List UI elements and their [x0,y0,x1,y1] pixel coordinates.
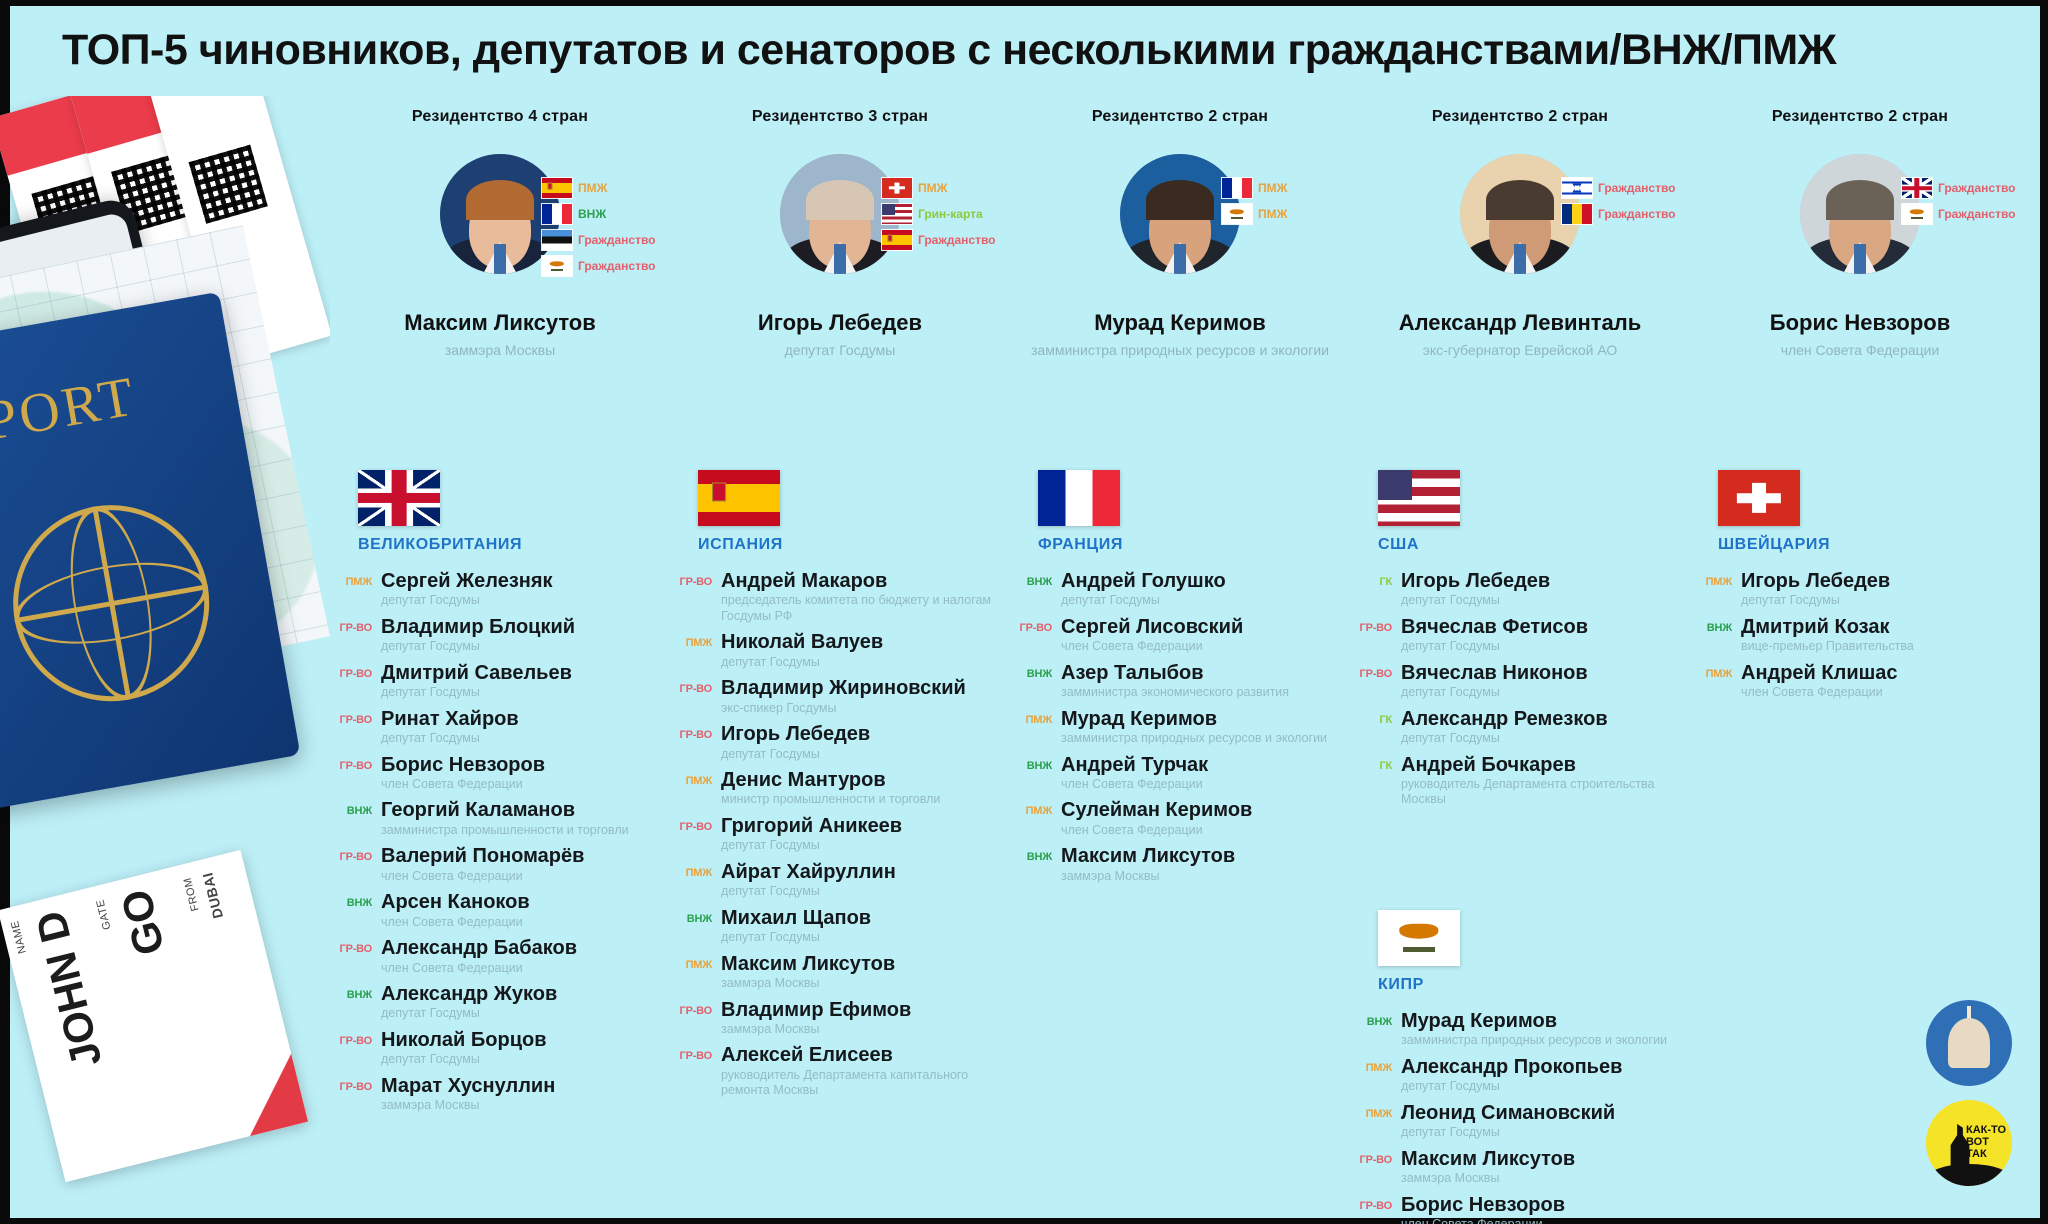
list-item: ГР-ВОМарат Хуснуллинзаммэра Москвы [330,1075,670,1114]
entry-role: депутат Госдумы [381,731,670,747]
list-item: ГР-ВОРинат Хайровдепутат Госдумы [330,708,670,747]
person-role: член Совета Федерации [1690,341,2030,359]
list-item: ПМЖАлександр Прокопьевдепутат Госдумы [1350,1056,1690,1095]
status-badge: ГР-ВО [330,1029,372,1068]
entry-name: Вячеслав Фетисов [1401,616,1690,638]
country-title: ИСПАНИЯ [698,536,783,554]
residency-count: Резидентство 2 стран [1690,108,2030,126]
entry-body: Максим Ликсутовзаммэра Москвы [721,953,1010,992]
residency-row: ВНЖ [542,202,656,226]
entry-role: заммэра Москвы [721,976,1010,992]
border-right [2040,0,2048,1224]
entry-name: Алексей Елисеев [721,1044,1010,1066]
list-item: ВНЖАндрей Голушкодепутат Госдумы [1010,570,1350,609]
entry-role: депутат Госдумы [721,884,1010,900]
entry-role: член Совета Федерации [1061,639,1350,655]
entry-name: Григорий Аникеев [721,815,1010,837]
entry-role: руководитель Департамента строительства … [1401,777,1690,808]
top5-card-2: Резидентство 3 странПМЖГрин-картаГраждан… [670,108,1010,359]
list-item: ГР-ВОВладимир Блоцкийдепутат Госдумы [330,616,670,655]
logo-line-1: КАК-ТО [1966,1124,2006,1136]
entry-body: Александр Бабаковчлен Совета Федерации [381,937,670,976]
entry-body: Андрей Турчакчлен Совета Федерации [1061,754,1350,793]
list-item: ГКИгорь Лебедевдепутат Госдумы [1350,570,1690,609]
residency-row: Гражданство [882,228,996,252]
country-column-usa: СШАГКИгорь Лебедевдепутат ГосдумыГР-ВОВя… [1350,470,1690,815]
country-entry-list: ГР-ВОАндрей Макаровпредседатель комитета… [670,570,1010,1099]
entry-body: Азер Талыбовзамминистра экономического р… [1061,662,1350,701]
entry-role: депутат Госдумы [1401,685,1690,701]
list-item: ГР-ВОАндрей Макаровпредседатель комитета… [670,570,1010,624]
boarding-pass: NAME JOHN D GATE GO FROM DUBAI [0,850,308,1182]
entry-name: Владимир Блоцкий [381,616,670,638]
entry-name: Валерий Пономарёв [381,845,670,867]
flag-france-icon [542,204,572,224]
entry-body: Игорь Лебедевдепутат Госдумы [1401,570,1690,609]
country-title: США [1378,536,1419,554]
country-entry-list: ВНЖАндрей Голушкодепутат ГосдумыГР-ВОСер… [1010,570,1350,884]
list-item: ГР-ВОМаксим Ликсутовзаммэра Москвы [1350,1148,1690,1187]
status-badge: ПМЖ [670,631,712,670]
person-name: Александр Левинталь [1350,310,1690,336]
status-badge: ГР-ВО [670,815,712,854]
entry-body: Игорь Лебедевдепутат Госдумы [1741,570,2030,609]
residency-row: ПМЖ [1222,202,1287,226]
residency-status: Гражданство [1598,181,1676,195]
entry-role: замминистра природных ресурсов и экологи… [1401,1033,1690,1049]
entry-role: депутат Госдумы [381,639,670,655]
residency-flag-list: ГражданствоГражданство [1902,176,2016,226]
globe-meridian [92,506,131,700]
status-badge: ПМЖ [670,769,712,808]
photo-area: ГражданствоГражданство [1350,154,1690,294]
page-title: ТОП-5 чиновников, депутатов и сенаторов … [62,26,2022,75]
residency-status: ПМЖ [1258,207,1287,221]
country-header: США [1350,470,1690,570]
entry-body: Григорий Аникеевдепутат Госдумы [721,815,1010,854]
flag-estonia-icon [542,230,572,250]
entry-role: замминистра промышленности и торговли [381,823,670,839]
residency-status: Грин-карта [918,207,983,221]
status-badge: ПМЖ [1690,662,1732,701]
status-badge: ПМЖ [1690,570,1732,609]
list-item: ГР-ВОАлександр Бабаковчлен Совета Федера… [330,937,670,976]
globe-icon [0,490,225,717]
status-badge: ВНЖ [1010,570,1052,609]
residency-status: ВНЖ [578,207,606,221]
status-badge: ГР-ВО [1350,662,1392,701]
list-item: ГР-ВОБорис Невзоровчлен Совета Федерации [1350,1194,1690,1224]
entry-role: депутат Госдумы [1401,639,1690,655]
flag-spain-icon [542,178,572,198]
photo-area: ПМЖВНЖГражданствоГражданство [330,154,670,294]
entry-role: замминистра экономического развития [1061,685,1350,701]
residency-count: Резидентство 3 стран [670,108,1010,126]
entry-name: Сергей Железняк [381,570,670,592]
residency-status: Гражданство [1938,207,2016,221]
entry-name: Александр Жуков [381,983,670,1005]
entry-body: Андрей Клишасчлен Совета Федерации [1741,662,2030,701]
status-badge: ГР-ВО [1350,1148,1392,1187]
list-item: ГР-ВОИгорь Лебедевдепутат Госдумы [670,723,1010,762]
list-item: ПМЖСергей Железнякдепутат Госдумы [330,570,670,609]
status-badge: ВНЖ [1010,754,1052,793]
country-column-switzerland: ШВЕЙЦАРИЯПМЖИгорь Лебедевдепутат Госдумы… [1690,470,2030,708]
flag-cyprus-icon [1222,204,1252,224]
entry-role: депутат Госдумы [1061,593,1350,609]
list-item: ГР-ВОВячеслав Фетисовдепутат Госдумы [1350,616,1690,655]
list-item: ПМЖМаксим Ликсутовзаммэра Москвы [670,953,1010,992]
list-item: ВНЖМихаил Щаповдепутат Госдумы [670,907,1010,946]
status-badge: ВНЖ [330,891,372,930]
list-item: ПМЖАндрей Клишасчлен Совета Федерации [1690,662,2030,701]
entry-body: Владимир Блоцкийдепутат Госдумы [381,616,670,655]
entry-body: Вячеслав Никоновдепутат Госдумы [1401,662,1690,701]
entry-name: Борис Невзоров [1401,1194,1690,1216]
entry-role: депутат Госдумы [721,747,1010,763]
status-badge: ГР-ВО [330,754,372,793]
entry-body: Айрат Хайруллиндепутат Госдумы [721,861,1010,900]
entry-role: член Совета Федерации [381,869,670,885]
list-item: ПМЖДенис Мантуровминистр промышленности … [670,769,1010,808]
entry-name: Арсен Каноков [381,891,670,913]
flag-uk-icon [1902,178,1932,198]
entry-role: депутат Госдумы [381,1006,670,1022]
country-entry-list: ПМЖИгорь Лебедевдепутат ГосдумыВНЖДмитри… [1690,570,2030,701]
flag-usa-icon [1378,470,1460,526]
residency-count: Резидентство 2 стран [1010,108,1350,126]
status-badge: ГР-ВО [1350,1194,1392,1224]
entry-role: замминистра природных ресурсов и экологи… [1061,731,1350,747]
entry-name: Сулейман Керимов [1061,799,1350,821]
entry-body: Максим Ликсутовзаммэра Москвы [1061,845,1350,884]
person-role: экс-губернатор Еврейской АО [1350,341,1690,359]
dome-shape [1948,1018,1990,1068]
country-title: ВЕЛИКОБРИТАНИЯ [358,536,522,554]
boarding-name-value: JOHN D [26,906,111,1072]
entry-body: Андрей Голушкодепутат Госдумы [1061,570,1350,609]
entry-name: Максим Ликсутов [1401,1148,1690,1170]
country-header: ИСПАНИЯ [670,470,1010,570]
infographic-page: ТОП-5 чиновников, депутатов и сенаторов … [0,0,2048,1224]
entry-name: Дмитрий Козак [1741,616,2030,638]
residency-row: Гражданство [1902,176,2016,200]
residency-row: ПМЖ [542,176,656,200]
entry-name: Айрат Хайруллин [721,861,1010,883]
status-badge: ПМЖ [1010,799,1052,838]
top5-card-5: Резидентство 2 странГражданствоГражданст… [1690,108,2030,359]
status-badge: ГР-ВО [670,677,712,716]
entry-name: Владимир Ефимов [721,999,1010,1021]
entry-body: Марат Хуснуллинзаммэра Москвы [381,1075,670,1114]
boarding-gate-value: GO [112,885,174,960]
list-item: ВНЖМаксим Ликсутовзаммэра Москвы [1010,845,1350,884]
country-column-france: ФРАНЦИЯВНЖАндрей Голушкодепутат ГосдумыГ… [1010,470,1350,891]
entry-name: Александр Прокопьев [1401,1056,1690,1078]
status-badge: ВНЖ [1690,616,1732,655]
entry-body: Александр Ремезковдепутат Госдумы [1401,708,1690,747]
boarding-corner [233,1054,308,1136]
list-item: ГР-ВОВалерий Пономарёвчлен Совета Федера… [330,845,670,884]
entry-role: депутат Госдумы [1401,593,1690,609]
entry-role: председатель комитета по бюджету и налог… [721,593,1010,624]
country-entry-list: ПМЖСергей Железнякдепутат ГосдумыГР-ВОВл… [330,570,670,1114]
entry-body: Сергей Железнякдепутат Госдумы [381,570,670,609]
top5-card-3: Резидентство 2 странПМЖПМЖМурад Керимовз… [1010,108,1350,359]
entry-body: Игорь Лебедевдепутат Госдумы [721,723,1010,762]
entry-body: Арсен Каноковчлен Совета Федерации [381,891,670,930]
country-title: ШВЕЙЦАРИЯ [1718,536,1830,554]
list-item: ГР-ВОВячеслав Никоновдепутат Госдумы [1350,662,1690,701]
entry-name: Игорь Лебедев [1401,570,1690,592]
country-column-uk: ВЕЛИКОБРИТАНИЯПМЖСергей Железнякдепутат … [330,470,670,1121]
status-badge: ГР-ВО [670,999,712,1038]
top5-card-4: Резидентство 2 странГражданствоГражданст… [1350,108,1690,359]
boarding-from-label: FROM [182,876,202,912]
status-badge: ГК [1350,570,1392,609]
country-title: ФРАНЦИЯ [1038,536,1123,554]
status-badge: ГР-ВО [1010,616,1052,655]
country-entry-list: ВНЖМурад Керимовзамминистра природных ре… [1350,1010,1690,1224]
top5-card-1: Резидентство 4 странПМЖВНЖГражданствоГра… [330,108,670,359]
list-item: ГР-ВОАлексей Елисеевруководитель Департа… [670,1044,1010,1098]
entry-body: Вячеслав Фетисовдепутат Госдумы [1401,616,1690,655]
entry-name: Николай Валуев [721,631,1010,653]
boarding-gate-label: GATE [94,898,113,931]
residency-status: ПМЖ [918,181,947,195]
entry-name: Леонид Симановский [1401,1102,1690,1124]
list-item: ВНЖАлександр Жуковдепутат Госдумы [330,983,670,1022]
residency-status: Гражданство [918,233,996,247]
status-badge: ВНЖ [670,907,712,946]
entry-name: Борис Невзоров [381,754,670,776]
status-badge: ВНЖ [330,799,372,838]
entry-role: член Совета Федерации [1061,777,1350,793]
status-badge: ПМЖ [330,570,372,609]
entry-name: Ринат Хайров [381,708,670,730]
entry-name: Владимир Жириновский [721,677,1010,699]
flag-israel-icon [1562,178,1592,198]
status-badge: ГР-ВО [330,708,372,747]
status-badge: ВНЖ [330,983,372,1022]
flag-cyprus-icon [1902,204,1932,224]
entry-role: член Совета Федерации [381,777,670,793]
top5-row: Резидентство 4 странПМЖВНЖГражданствоГра… [330,108,2030,348]
list-item: ГР-ВОВладимир Ефимовзаммэра Москвы [670,999,1010,1038]
list-item: ВНЖАрсен Каноковчлен Совета Федерации [330,891,670,930]
entry-name: Игорь Лебедев [1741,570,2030,592]
status-badge: ГР-ВО [330,845,372,884]
entry-body: Сергей Лисовскийчлен Совета Федерации [1061,616,1350,655]
residency-status: Гражданство [1598,207,1676,221]
country-header: ШВЕЙЦАРИЯ [1690,470,2030,570]
residency-row: Гражданство [542,228,656,252]
list-item: ГР-ВОДмитрий Савельевдепутат Госдумы [330,662,670,701]
residency-flag-list: ПМЖПМЖ [1222,176,1287,226]
person-role: депутат Госдумы [670,341,1010,359]
entry-body: Александр Жуковдепутат Госдумы [381,983,670,1022]
entry-body: Мурад Керимовзамминистра природных ресур… [1401,1010,1690,1049]
list-item: ВНЖАндрей Турчакчлен Совета Федерации [1010,754,1350,793]
list-item: ВНЖАзер Талыбовзамминистра экономическог… [1010,662,1350,701]
entry-role: депутат Госдумы [1401,731,1690,747]
status-badge: ГК [1350,708,1392,747]
residency-row: ПМЖ [1222,176,1287,200]
person-name: Игорь Лебедев [670,310,1010,336]
list-item: ГР-ВОСергей Лисовскийчлен Совета Федерац… [1010,616,1350,655]
entry-body: Николай Валуевдепутат Госдумы [721,631,1010,670]
residency-row: Гражданство [542,254,656,278]
residency-status: Гражданство [578,233,656,247]
status-badge: ГР-ВО [670,570,712,624]
person-name: Мурад Керимов [1010,310,1350,336]
residency-status: ПМЖ [1258,181,1287,195]
status-badge: ВНЖ [1010,845,1052,884]
globe-parallel [14,584,208,623]
entry-body: Алексей Елисеевруководитель Департамента… [721,1044,1010,1098]
residency-status: Гражданство [578,259,656,273]
entry-body: Андрей Бочкаревруководитель Департамента… [1401,754,1690,808]
entry-body: Владимир Жириновскийэкс-спикер Госдумы [721,677,1010,716]
status-badge: ГР-ВО [670,1044,712,1098]
entry-name: Денис Мантуров [721,769,1010,791]
residency-row: Грин-карта [882,202,996,226]
entry-role: депутат Госдумы [381,685,670,701]
entry-body: Борис Невзоровчлен Совета Федерации [1401,1194,1690,1224]
entry-body: Андрей Макаровпредседатель комитета по б… [721,570,1010,624]
person-role: замминистра природных ресурсов и экологи… [1010,341,1350,359]
status-badge: ГР-ВО [330,1075,372,1114]
entry-name: Николай Борцов [381,1029,670,1051]
entry-name: Андрей Макаров [721,570,1010,592]
entry-role: министр промышленности и торговли [721,792,1010,808]
list-item: ВНЖГеоргий Каламановзамминистра промышле… [330,799,670,838]
logo-line-2: ВОТ ТАК [1966,1136,2012,1160]
entry-role: заммэра Москвы [381,1098,670,1114]
qr-code-icon [189,145,268,224]
status-badge: ВНЖ [1350,1010,1392,1049]
list-item: ПМЖАйрат Хайруллиндепутат Госдумы [670,861,1010,900]
boarding-name-label: NAME [9,919,29,955]
flag-spain-icon [882,230,912,250]
entry-name: Мурад Керимов [1061,708,1350,730]
list-item: ГКАлександр Ремезковдепутат Госдумы [1350,708,1690,747]
entry-body: Дмитрий Савельевдепутат Госдумы [381,662,670,701]
list-item: ПМЖСулейман Керимовчлен Совета Федерации [1010,799,1350,838]
entry-role: заммэра Москвы [721,1022,1010,1038]
entry-role: депутат Госдумы [721,655,1010,671]
residency-row: ПМЖ [882,176,996,200]
channel-logo[interactable]: КАК-ТО ВОТ ТАК [1926,1100,2012,1186]
status-badge: ГР-ВО [330,662,372,701]
entry-body: Денис Мантуровминистр промышленности и т… [721,769,1010,808]
status-badge: ГК [1350,754,1392,808]
status-badge: ГР-ВО [670,723,712,762]
entry-body: Максим Ликсутовзаммэра Москвы [1401,1148,1690,1187]
entry-body: Георгий Каламановзамминистра промышленно… [381,799,670,838]
entry-role: депутат Госдумы [1401,1125,1690,1141]
residency-row: Гражданство [1562,202,1676,226]
photo-area: ПМЖГрин-картаГражданство [670,154,1010,294]
person-name: Максим Ликсутов [330,310,670,336]
list-item: ГР-ВОНиколай Борцовдепутат Госдумы [330,1029,670,1068]
passport-label: SPORT [0,364,141,459]
flag-uk-icon [358,470,440,526]
entry-role: экс-спикер Госдумы [721,701,1010,717]
entry-name: Марат Хуснуллин [381,1075,670,1097]
entry-body: Валерий Пономарёвчлен Совета Федерации [381,845,670,884]
flag-spain-icon [698,470,780,526]
status-badge: ПМЖ [1010,708,1052,747]
country-header: КИПР [1350,910,1690,1010]
entry-name: Мурад Керимов [1401,1010,1690,1032]
entry-name: Сергей Лисовский [1061,616,1350,638]
photo-area: ГражданствоГражданство [1690,154,2030,294]
entry-name: Андрей Турчак [1061,754,1350,776]
residency-status: ПМЖ [578,181,607,195]
residency-row: Гражданство [1902,202,2016,226]
entry-name: Максим Ликсутов [721,953,1010,975]
flag-switzerland-icon [1718,470,1800,526]
residency-count: Резидентство 4 стран [330,108,670,126]
entry-body: Дмитрий Козаквице-премьер Правительства [1741,616,2030,655]
status-badge: ГР-ВО [330,937,372,976]
entry-body: Владимир Ефимовзаммэра Москвы [721,999,1010,1038]
entry-role: заммэра Москвы [1401,1171,1690,1187]
residency-row: Гражданство [1562,176,1676,200]
entry-body: Александр Прокопьевдепутат Госдумы [1401,1056,1690,1095]
entry-role: член Совета Федерации [381,915,670,931]
entry-role: депутат Госдумы [721,838,1010,854]
residency-status: Гражданство [1938,181,2016,195]
status-badge: ПМЖ [670,861,712,900]
entry-role: вице-премьер Правительства [1741,639,2030,655]
status-badge: ПМЖ [1350,1102,1392,1141]
flag-usa-icon [882,204,912,224]
list-item: ВНЖДмитрий Козаквице-премьер Правительст… [1690,616,2030,655]
entry-body: Михаил Щаповдепутат Госдумы [721,907,1010,946]
country-header: ВЕЛИКОБРИТАНИЯ [330,470,670,570]
list-item: ГР-ВОБорис Невзоровчлен Совета Федерации [330,754,670,793]
residency-flag-list: ПМЖГрин-картаГражданство [882,176,996,252]
entry-name: Андрей Бочкарев [1401,754,1690,776]
residency-count: Резидентство 2 стран [1350,108,1690,126]
entry-name: Азер Талыбов [1061,662,1350,684]
entry-name: Андрей Голушко [1061,570,1350,592]
list-item: ГР-ВОГригорий Аникеевдепутат Госдумы [670,815,1010,854]
flag-cyprus-icon [1378,910,1460,966]
list-item: ПМЖИгорь Лебедевдепутат Госдумы [1690,570,2030,609]
country-column-cyprus: КИПРВНЖМурад Керимовзамминистра природны… [1350,910,1690,1224]
status-badge: ГР-ВО [330,616,372,655]
flag-france-icon [1222,178,1252,198]
entry-body: Борис Невзоровчлен Совета Федерации [381,754,670,793]
person-name: Борис Невзоров [1690,310,2030,336]
country-entry-list: ГКИгорь Лебедевдепутат ГосдумыГР-ВОВячес… [1350,570,1690,808]
entry-role: депутат Госдумы [381,1052,670,1068]
entry-body: Леонид Симановскийдепутат Госдумы [1401,1102,1690,1141]
photo-area: ПМЖПМЖ [1010,154,1350,294]
entry-body: Сулейман Керимовчлен Совета Федерации [1061,799,1350,838]
status-badge: ГР-ВО [1350,616,1392,655]
residency-flag-list: ПМЖВНЖГражданствоГражданство [542,176,656,278]
country-column-spain: ИСПАНИЯГР-ВОАндрей Макаровпредседатель к… [670,470,1010,1106]
country-header: ФРАНЦИЯ [1010,470,1350,570]
list-item: ГКАндрей Бочкаревруководитель Департамен… [1350,754,1690,808]
entry-role: депутат Госдумы [721,930,1010,946]
list-item: ВНЖМурад Керимовзамминистра природных ре… [1350,1010,1690,1049]
entry-role: депутат Госдумы [1741,593,2030,609]
